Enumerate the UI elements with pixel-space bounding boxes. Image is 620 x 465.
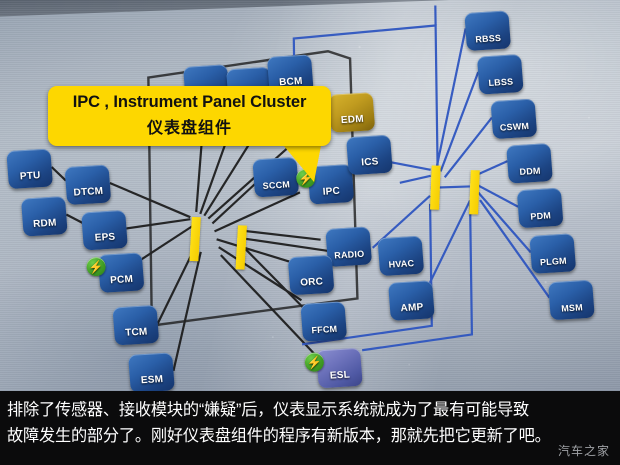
node-label: PTU xyxy=(20,170,41,182)
node-orc[interactable]: ORC xyxy=(288,255,335,296)
node-esm[interactable]: ESM xyxy=(128,352,175,393)
watermark: 汽车之家 xyxy=(558,442,610,459)
lightning-bolt-icon: ⚡ xyxy=(86,257,106,277)
node-dtcm[interactable]: DTCM xyxy=(64,164,111,205)
node-label: CSWM xyxy=(499,121,529,133)
callout-title: IPC , Instrument Panel Cluster xyxy=(58,93,321,112)
node-label: DTCM xyxy=(73,186,103,199)
node-rbss[interactable]: RBSS xyxy=(464,10,511,51)
node-pdm[interactable]: PDM xyxy=(517,188,564,229)
screenshot-root: PTU DTCM RDM EPS ⚡ PCM TCM ESM ACC BCM E… xyxy=(0,0,620,465)
node-radio[interactable]: RADIO xyxy=(325,226,372,267)
node-cswm[interactable]: CSWM xyxy=(491,99,538,140)
node-eps[interactable]: EPS xyxy=(81,210,128,251)
node-label: RADIO xyxy=(334,249,365,261)
node-label: FFCM xyxy=(311,324,338,336)
node-ddm[interactable]: DDM xyxy=(506,143,553,184)
can-bus-network-diagram: PTU DTCM RDM EPS ⚡ PCM TCM ESM ACC BCM E… xyxy=(0,0,620,403)
node-lbss[interactable]: LBSS xyxy=(477,54,524,95)
callout-bubble: IPC , Instrument Panel Cluster 仪表盘组件 xyxy=(48,86,331,146)
node-label: AMP xyxy=(400,302,424,314)
node-label: LBSS xyxy=(488,77,514,88)
node-label: EPS xyxy=(94,232,115,244)
node-label: ICS xyxy=(361,156,379,168)
node-plgm[interactable]: PLGM xyxy=(529,233,576,274)
node-rdm[interactable]: RDM xyxy=(21,196,68,237)
node-label: DDM xyxy=(519,166,541,177)
bus-hub-right-1 xyxy=(430,166,441,210)
node-pcm[interactable]: ⚡ PCM xyxy=(98,252,145,293)
node-label: ESL xyxy=(330,369,351,381)
node-label: HVAC xyxy=(388,258,414,270)
node-edm[interactable]: EDM xyxy=(328,92,375,133)
node-msm[interactable]: MSM xyxy=(548,280,595,321)
node-esl[interactable]: ⚡ ESL xyxy=(316,348,363,389)
node-amp[interactable]: AMP xyxy=(388,280,435,321)
caption-line-1: 排除了传感器、接收模块的“嫌疑”后，仪表显示系统就成为了最有可能导致 xyxy=(7,397,613,423)
node-ffcm[interactable]: FFCM xyxy=(300,301,347,342)
node-label: PCM xyxy=(110,274,134,286)
node-label: EDM xyxy=(341,114,365,126)
node-ptu[interactable]: PTU xyxy=(6,148,53,189)
lightning-bolt-icon: ⚡ xyxy=(304,352,324,372)
node-tcm[interactable]: TCM xyxy=(112,305,159,346)
caption-line-2: 故障发生的部分了。刚好仪表盘组件的程序有新版本，那就先把它更新了吧。 xyxy=(7,423,613,449)
caption-bar: 排除了传感器、接收模块的“嫌疑”后，仪表显示系统就成为了最有可能导致 故障发生的… xyxy=(0,391,620,465)
node-label: RBSS xyxy=(475,33,502,45)
node-hvac[interactable]: HVAC xyxy=(377,236,424,277)
node-ics[interactable]: ICS xyxy=(346,135,393,176)
bus-hub-right-2 xyxy=(469,170,480,214)
node-label: PLGM xyxy=(540,256,568,268)
node-label: RDM xyxy=(33,218,57,230)
node-label: PDM xyxy=(530,210,551,221)
node-label: TCM xyxy=(125,326,148,338)
node-label: MSM xyxy=(561,302,583,313)
callout-subtitle: 仪表盘组件 xyxy=(58,114,321,138)
node-label: ORC xyxy=(300,276,324,288)
node-label: ESM xyxy=(141,374,164,386)
